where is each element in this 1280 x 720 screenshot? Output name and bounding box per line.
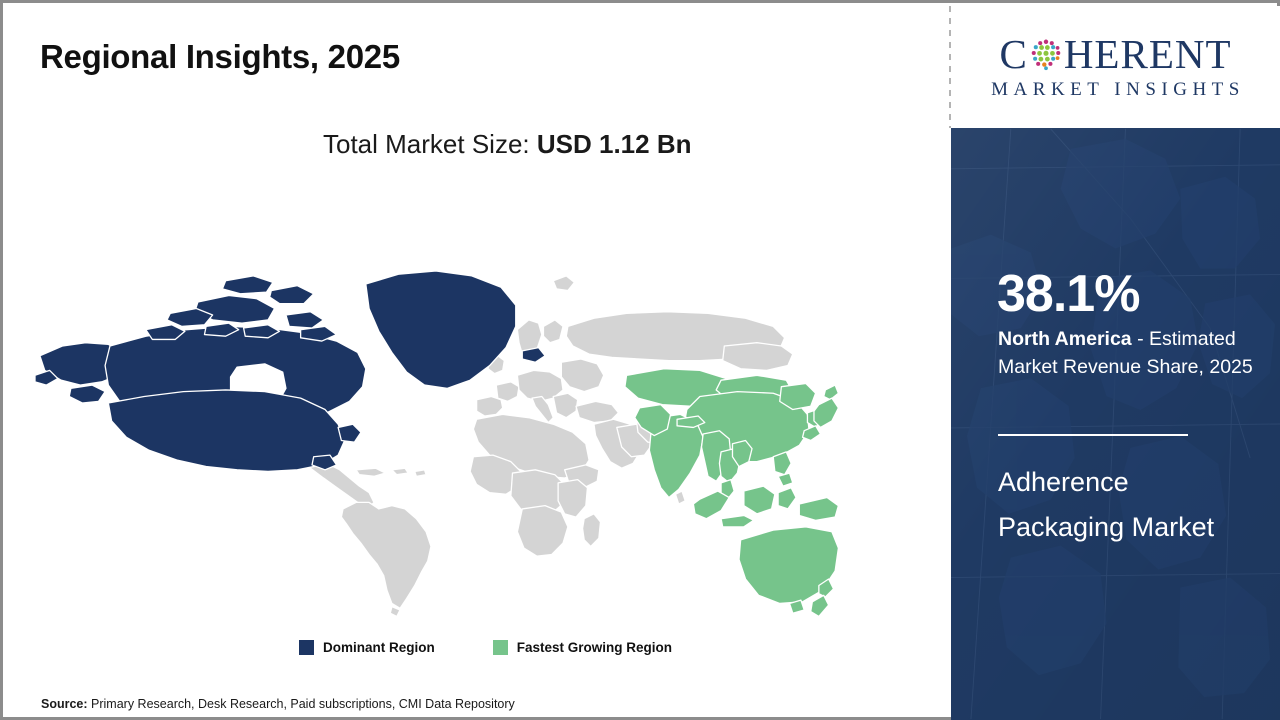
- market-name: Adherence Packaging Market: [998, 460, 1248, 550]
- total-market-size: Total Market Size: USD 1.12 Bn: [323, 129, 691, 160]
- logo-word-part2: HERENT: [1064, 34, 1232, 75]
- logo-word-part1: C: [999, 34, 1027, 75]
- logo-tagline: MARKET INSIGHTS: [986, 79, 1245, 101]
- source-label: Source:: [41, 697, 88, 711]
- stat-value: 38.1%: [997, 268, 1139, 320]
- stat-caption: North America - Estimated Market Revenue…: [998, 326, 1266, 381]
- infographic-frame: Regional Insights, 2025 Total Market Siz…: [0, 0, 1280, 720]
- stat-panel: 38.1% North America - Estimated Market R…: [951, 128, 1280, 720]
- source-text: Primary Research, Desk Research, Paid su…: [91, 697, 515, 711]
- source-note: Source: Primary Research, Desk Research,…: [41, 697, 515, 711]
- world-map: [21, 183, 841, 623]
- map-region-fastest-growing: [625, 369, 838, 617]
- logo-wordmark: C: [999, 34, 1231, 75]
- legend-swatch-navy-icon: [299, 640, 314, 655]
- map-legend: Dominant Region Fastest Growing Region: [299, 640, 672, 655]
- left-content-area: Regional Insights, 2025 Total Market Siz…: [3, 3, 949, 717]
- legend-item-dominant: Dominant Region: [299, 640, 435, 655]
- legend-item-label: Fastest Growing Region: [517, 640, 672, 655]
- map-region-dominant: [35, 271, 545, 471]
- legend-item-fastest-growing: Fastest Growing Region: [493, 640, 672, 655]
- total-market-size-value: USD 1.12 Bn: [537, 129, 692, 159]
- stat-region-name: North America: [998, 328, 1132, 350]
- stat-divider-rule: [998, 434, 1188, 436]
- legend-item-label: Dominant Region: [323, 640, 435, 655]
- legend-swatch-green-icon: [493, 640, 508, 655]
- dotted-globe-icon: [1029, 37, 1063, 71]
- total-market-size-label: Total Market Size:: [323, 129, 530, 159]
- brand-logo: C: [951, 6, 1280, 128]
- page-title: Regional Insights, 2025: [40, 38, 400, 76]
- stat-panel-content: 38.1% North America - Estimated Market R…: [951, 128, 1280, 720]
